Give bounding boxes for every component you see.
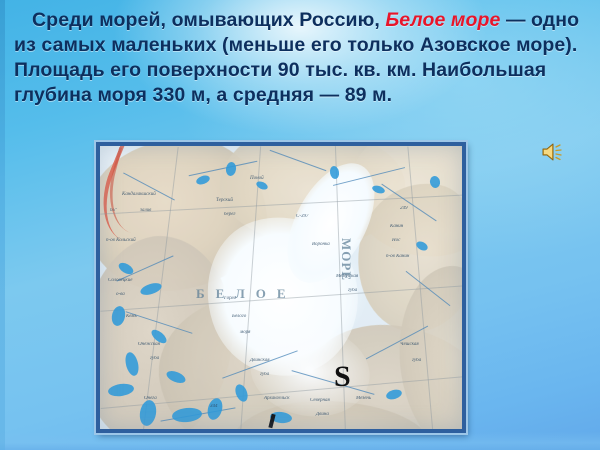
map-place-label: Мезенская [336, 274, 358, 279]
slide-canvas: Среди морей, омывающих Россию, Белое мор… [0, 0, 600, 450]
speaker-icon[interactable] [541, 141, 567, 163]
map-place-label: п-ов Канин [386, 254, 409, 259]
slide-caption: Среди морей, омывающих Россию, Белое мор… [14, 8, 588, 108]
map-place-label: Мезень [356, 396, 371, 401]
map-place-label: Горло [224, 296, 236, 301]
map-annotation-s-glyph: S [334, 362, 351, 392]
map-place-label: Белого [232, 314, 246, 319]
map-place-label: 249 [400, 206, 408, 211]
map-place-label: залив [140, 208, 151, 213]
map-place-label: 65° [110, 208, 117, 213]
map-place-label: Двина [316, 412, 329, 417]
map-place-label: Нос [392, 238, 400, 243]
map-place-label: Двинская [250, 358, 270, 363]
map-place-label: Архангельск [264, 396, 290, 401]
map-place-label: п-ов Кольский [106, 238, 136, 243]
background-bottom-band [0, 432, 600, 450]
map-place-label: моря [240, 330, 250, 335]
caption-highlight-beloe-more: Белое море [385, 9, 500, 31]
map-place-label: Соловецкие [108, 278, 132, 283]
map-place-label: Воронка [312, 242, 330, 247]
map-place-label: берег [224, 212, 235, 217]
map-place-label: губа [412, 358, 421, 363]
map-place-label: губа [260, 372, 269, 377]
map-place-label: Терский [216, 198, 233, 203]
map-canvas: БЕЛОЕ МОРЕ Кандалакшскийзалив65°п-ов Кол… [100, 146, 462, 429]
caption-text-part1: Среди морей, омывающих Россию, [32, 9, 385, 31]
map-place-label: Поной [250, 176, 264, 181]
map-place-label: Канин [390, 224, 403, 229]
map-place-label: Чешская [400, 342, 419, 347]
map-place-label: губа [348, 288, 357, 293]
map-place-label: губа [150, 356, 159, 361]
map-place-label: о-ва [116, 292, 125, 297]
map-place-label: Онежская [138, 342, 160, 347]
map-place-label: С-397 [296, 214, 309, 219]
map-label-sea-name-horizontal: БЕЛОЕ [196, 286, 297, 302]
map-place-label: Кандалакшский [122, 192, 156, 197]
map-place-label: Онега [144, 396, 157, 401]
map-place-label: Кемь [126, 314, 137, 319]
map-image-frame[interactable]: БЕЛОЕ МОРЕ Кандалакшскийзалив65°п-ов Кол… [96, 142, 466, 433]
map-place-label: Северная [310, 398, 330, 403]
map-place-label: 344 [210, 404, 218, 409]
